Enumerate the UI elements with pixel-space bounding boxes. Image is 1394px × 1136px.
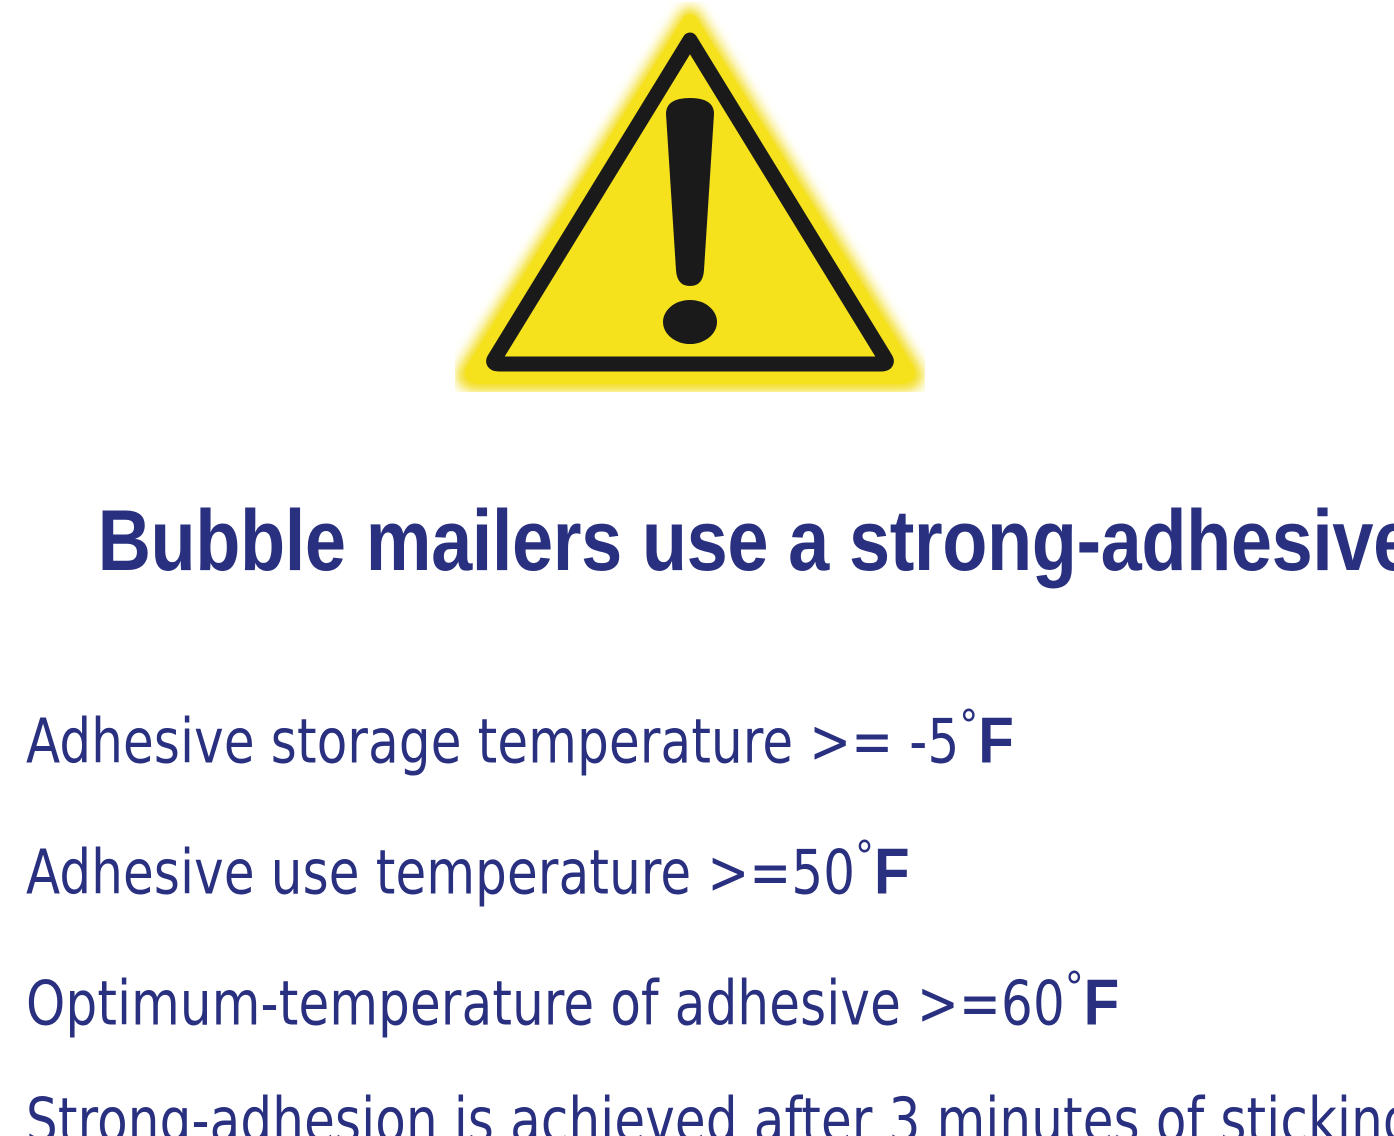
spec-line-adhesion-time: Strong-adhesion is achieved after 3 minu… bbox=[26, 1055, 1386, 1136]
page-title: Bubble mailers use a strong-adhesive bbox=[98, 498, 1297, 590]
spec-list: Adhesive storage temperature >= -5°F Adh… bbox=[26, 662, 1386, 1136]
spec-line-storage-temperature: Adhesive storage temperature >= -5°F bbox=[26, 662, 1386, 793]
degree-symbol: ° bbox=[1065, 964, 1084, 1012]
temperature-unit: F bbox=[1084, 967, 1120, 1039]
degree-symbol: ° bbox=[959, 702, 978, 750]
spec-text: Adhesive use temperature >=50 bbox=[26, 836, 855, 908]
spec-line-use-temperature: Adhesive use temperature >=50°F bbox=[26, 793, 1386, 924]
temperature-unit: F bbox=[978, 705, 1014, 777]
product-info-graphic: Bubble mailers use a strong-adhesive Adh… bbox=[0, 0, 1394, 1136]
spec-text: Strong-adhesion is achieved after 3 minu… bbox=[26, 1084, 1394, 1136]
spec-text: Optimum-temperature of adhesive >=60 bbox=[26, 967, 1065, 1039]
temperature-unit: F bbox=[874, 836, 910, 908]
degree-symbol: ° bbox=[855, 833, 874, 881]
spec-text: Adhesive storage temperature >= -5 bbox=[26, 705, 959, 777]
spec-line-optimum-temperature: Optimum-temperature of adhesive >=60°F bbox=[26, 924, 1386, 1055]
warning-triangle-exclamation-icon bbox=[455, 2, 925, 392]
